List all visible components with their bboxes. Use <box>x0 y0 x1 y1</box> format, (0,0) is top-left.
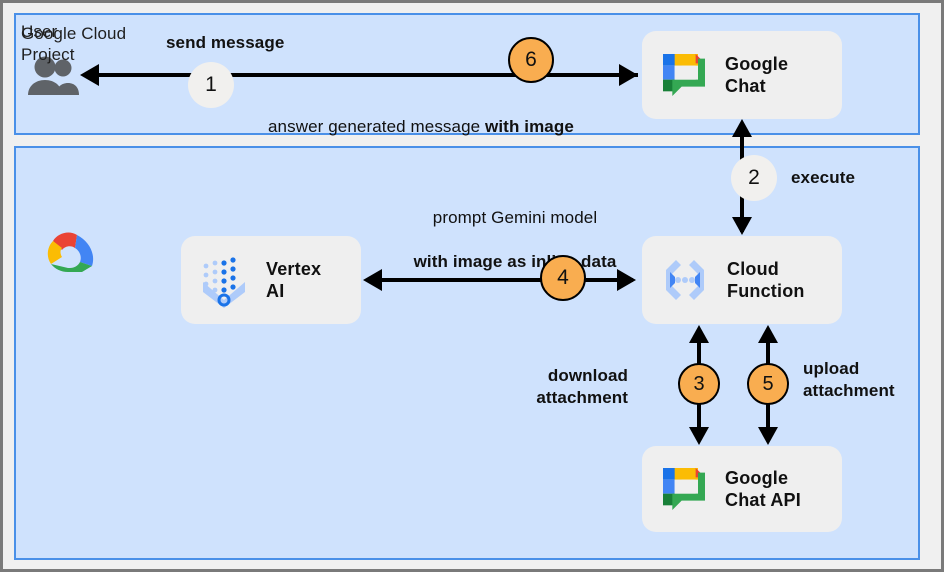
edge-download-arrowhead-down <box>689 427 709 445</box>
edge-user-to-chat-arrowhead <box>619 64 638 86</box>
step-badge-5: 5 <box>747 363 789 405</box>
step-badge-6: 6 <box>508 37 554 83</box>
node-google-chat-label: Google Chat <box>725 53 788 97</box>
node-vertex-ai-label: Vertex AI <box>266 258 321 302</box>
edge-upload-arrowhead-down <box>758 427 778 445</box>
node-google-chat-api-label: Google Chat API <box>725 467 801 511</box>
edge-cloudfunction-vertexai-arrowhead-left <box>363 269 382 291</box>
label-prompt-regular: prompt Gemini model <box>355 207 675 229</box>
edge-upload-arrowhead-up <box>758 325 778 343</box>
cloud-function-icon <box>656 251 714 309</box>
edge-cloudfunction-vertexai-line <box>381 278 633 282</box>
google-cloud-logo <box>37 227 107 283</box>
step-badge-1: 1 <box>188 62 234 108</box>
label-answer-bold: with image <box>485 117 574 136</box>
google-chat-icon <box>656 47 712 103</box>
node-vertex-ai[interactable]: Vertex AI <box>181 236 361 324</box>
step-badge-4: 4 <box>540 255 586 301</box>
label-answer-regular: answer generated message <box>268 117 485 136</box>
node-google-chat[interactable]: Google Chat <box>642 31 842 119</box>
edge-chat-cloudfunction-arrowhead-up <box>732 119 752 137</box>
label-execute: execute <box>791 167 855 189</box>
edge-cloudfunction-vertexai-arrowhead-right <box>617 269 636 291</box>
node-cloud-function-label: Cloud Function <box>727 258 805 302</box>
label-answer-generated-message: answer generated message with image <box>268 94 574 138</box>
panel-google-cloud-project-title: Google Cloud Project <box>21 23 126 65</box>
label-download-attachment: download attachment <box>483 365 628 409</box>
node-google-chat-api[interactable]: Google Chat API <box>642 446 842 532</box>
edge-chat-to-user-arrowhead <box>80 64 99 86</box>
label-upload-attachment: upload attachment <box>803 358 895 402</box>
edge-download-arrowhead-up <box>689 325 709 343</box>
google-chat-icon <box>656 461 712 517</box>
vertex-ai-icon <box>195 251 253 309</box>
node-cloud-function[interactable]: Cloud Function <box>642 236 842 324</box>
edge-chat-to-user-line <box>98 73 638 77</box>
label-send-message: send message <box>166 32 284 54</box>
diagram-canvas: User send message answer generated messa… <box>0 0 944 572</box>
step-badge-2: 2 <box>731 155 777 201</box>
edge-chat-cloudfunction-arrowhead-down <box>732 217 752 235</box>
step-badge-3: 3 <box>678 363 720 405</box>
